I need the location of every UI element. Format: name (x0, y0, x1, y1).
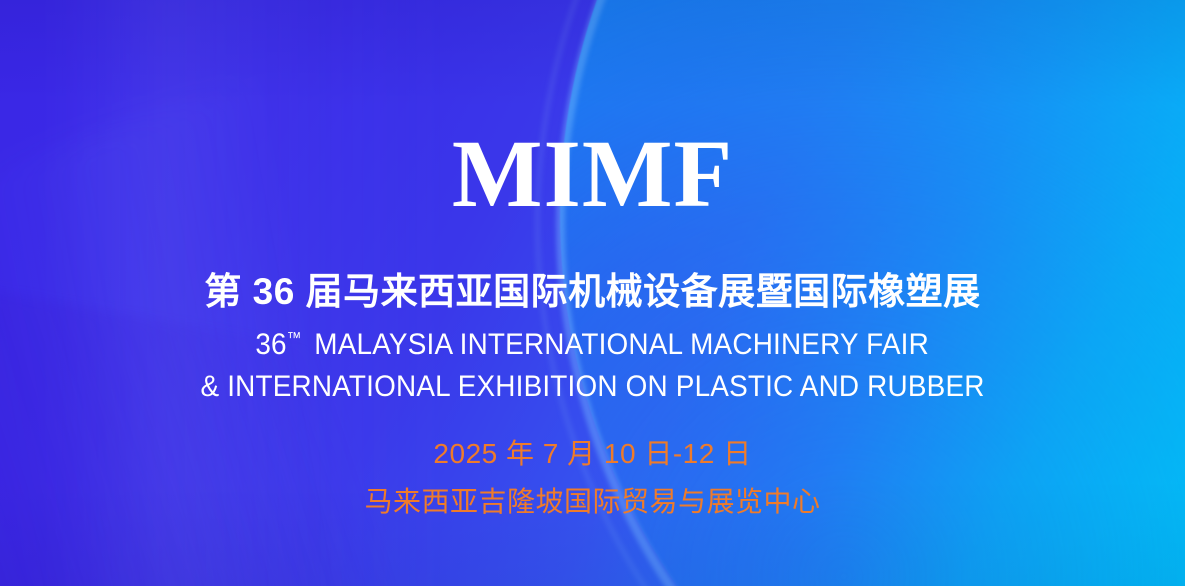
event-title-english-line2: & INTERNATIONAL EXHIBITION ON PLASTIC AN… (200, 369, 984, 404)
event-venue: 马来西亚吉隆坡国际贸易与展览中心 (364, 485, 820, 519)
mimf-logo: MIMF (452, 126, 733, 222)
edition-number: 36 (256, 328, 287, 361)
event-banner: MIMF 第 36 届马来西亚国际机械设备展暨国际橡塑展 36™MALAYSIA… (0, 0, 1185, 586)
event-title-english-line1-text: MALAYSIA INTERNATIONAL MACHINERY FAIR (315, 328, 930, 361)
event-title-english-line1: 36™MALAYSIA INTERNATIONAL MACHINERY FAIR (256, 327, 930, 362)
banner-content: MIMF 第 36 届马来西亚国际机械设备展暨国际橡塑展 36™MALAYSIA… (0, 0, 1185, 586)
edition-ordinal-suffix: ™ (287, 330, 302, 347)
event-date: 2025 年 7 月 10 日-12 日 (433, 437, 751, 471)
event-title-chinese: 第 36 届马来西亚国际机械设备展暨国际橡塑展 (204, 272, 980, 313)
event-title-english-group: 36™MALAYSIA INTERNATIONAL MACHINERY FAIR… (171, 327, 1014, 405)
